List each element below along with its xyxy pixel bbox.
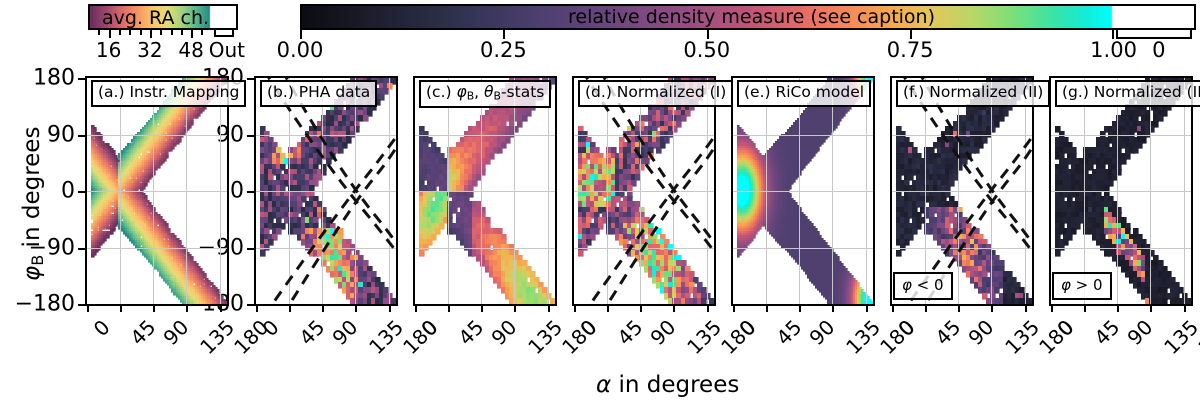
inset-label-g: φ > 0 (1052, 272, 1112, 300)
panel-d[interactable] (572, 76, 716, 306)
colorbar-minor-tick (98, 30, 100, 35)
xaxis-tick (958, 306, 960, 312)
gridline-vertical (355, 78, 356, 304)
panel-b[interactable] (254, 76, 398, 306)
xaxis-tick (389, 306, 391, 312)
xaxis-tick (892, 306, 894, 312)
xaxis-tick-label: 90 (805, 315, 840, 350)
xaxis-tick-label: 45 (931, 315, 966, 350)
gridline-vertical (832, 78, 833, 304)
xaxis-tick (673, 306, 675, 312)
yaxis-tick-label: 0 (5, 179, 75, 204)
panel-c[interactable] (413, 76, 557, 306)
colorbar-tick-label: 48 (178, 38, 203, 62)
gridline-horizontal (892, 248, 1032, 249)
gridline-vertical (1084, 78, 1085, 304)
xaxis-tick (1084, 306, 1086, 312)
xaxis-tick (866, 306, 868, 312)
gridline-vertical (1150, 78, 1151, 304)
xaxis-tick-label: 90 (1123, 315, 1158, 350)
gridline-vertical (640, 78, 641, 304)
gridline-horizontal (733, 191, 873, 192)
gridline-vertical (548, 78, 549, 304)
panel-title-a: (a.) Instr. Mapping (91, 80, 246, 107)
yaxis-tick (78, 248, 85, 250)
gridline-horizontal (415, 248, 555, 249)
colorbar-minor-tick (140, 30, 142, 35)
xaxis-tick (799, 306, 801, 312)
gridline-horizontal (733, 248, 873, 249)
colorbar-minor-tick (171, 30, 173, 35)
gridline-vertical (514, 78, 515, 304)
xaxis-tick (991, 306, 993, 312)
xaxis-tick-label: 45 (1090, 315, 1125, 350)
gridline-vertical (481, 78, 482, 304)
gridline-vertical (186, 78, 187, 304)
xaxis-tick-label: 90 (328, 315, 363, 350)
gridline-horizontal (87, 248, 227, 249)
panel-title-g: (g.) Normalized (II) (1055, 80, 1200, 107)
gridline-horizontal (574, 191, 714, 192)
xaxis-tick (1051, 306, 1053, 312)
xaxis-tick (289, 306, 291, 312)
xaxis-tick (514, 306, 516, 312)
xaxis-tick (120, 306, 122, 312)
inset-label-f: φ < 0 (893, 272, 953, 300)
gridline-vertical (958, 78, 959, 304)
gridline-horizontal (733, 135, 873, 136)
panel-title-b: (b.) PHA data (260, 80, 377, 107)
yaxis-tick-label: 180 (5, 66, 75, 91)
colorbar-tick-label: 0.75 (887, 38, 934, 62)
yaxis-tick (78, 191, 85, 193)
colorbar-minor-tick (181, 30, 183, 35)
yaxis-tick (247, 248, 254, 250)
xaxis-tick-label: 45 (772, 315, 807, 350)
xaxis-tick (1184, 306, 1186, 312)
gridline-horizontal (892, 135, 1032, 136)
gridline-vertical (120, 78, 121, 304)
figure-root: avg. RA ch. relative density measure (se… (0, 0, 1200, 414)
colorbar-tick (150, 30, 152, 38)
xaxis-tick (355, 306, 357, 312)
xaxis-tick (322, 306, 324, 312)
xaxis-tick (87, 306, 89, 312)
gridline-horizontal (574, 135, 714, 136)
colorbar-over-bracket (214, 30, 234, 37)
colorbar-density-title: relative density measure (see caption) (568, 8, 935, 27)
gridline-vertical (1117, 78, 1118, 304)
gridline-vertical (153, 78, 154, 304)
gridline-horizontal (574, 248, 714, 249)
panel-title-c: (c.) φB, θB-stats (419, 80, 551, 108)
gridline-vertical (322, 78, 323, 304)
xaxis-tick-label: 45 (126, 315, 161, 350)
colorbar-over-label: 0 (1152, 38, 1165, 62)
xaxis-tick-label: 90 (159, 315, 194, 350)
panel-a[interactable] (85, 76, 229, 306)
xaxis-tick (1117, 306, 1119, 312)
gridline-vertical (389, 78, 390, 304)
gridline-horizontal (1051, 191, 1191, 192)
yaxis-tick-label: −180 (5, 292, 75, 317)
yaxis-tick-label: −90 (5, 235, 75, 260)
xaxis-tick (707, 306, 709, 312)
gridline-vertical (220, 78, 221, 304)
colorbar-minor-tick (201, 30, 203, 35)
yaxis-tick (78, 304, 85, 306)
xaxis-tick (548, 306, 550, 312)
colorbar-avg-ra-title: avg. RA ch. (102, 9, 209, 28)
yaxis-tick (78, 78, 85, 80)
gridline-vertical (766, 78, 767, 304)
panel-title-d: (d.) Normalized (I) (578, 80, 733, 107)
gridline-horizontal (256, 135, 396, 136)
xaxis-tick (448, 306, 450, 312)
colorbar-tick-label: 32 (137, 38, 162, 62)
xaxis-tick (574, 306, 576, 312)
xaxis-tick (607, 306, 609, 312)
gridline-horizontal (415, 135, 555, 136)
gridline-vertical (448, 78, 449, 304)
xaxis-tick-label: 45 (295, 315, 330, 350)
colorbar-tick-label: 0.50 (683, 38, 730, 62)
gridline-horizontal (1051, 135, 1191, 136)
gridline-vertical (1025, 78, 1026, 304)
xaxis-tick-label: 45 (613, 315, 648, 350)
panel-title-e: (e.) RiCo model (737, 80, 871, 107)
yaxis-tick (247, 78, 254, 80)
gridline-vertical (866, 78, 867, 304)
gridline-vertical (925, 78, 926, 304)
xaxis-tick-label: 90 (964, 315, 999, 350)
gridline-vertical (991, 78, 992, 304)
gridline-horizontal (256, 248, 396, 249)
gridline-horizontal (892, 191, 1032, 192)
gridline-vertical (289, 78, 290, 304)
colorbar-tick-label: 0.00 (277, 38, 324, 62)
yaxis-tick (78, 135, 85, 137)
colorbar-minor-tick (119, 30, 121, 35)
panel-e[interactable] (731, 76, 875, 306)
xaxis-tick-label: 45 (454, 315, 489, 350)
xaxis-tick (832, 306, 834, 312)
gridline-horizontal (415, 191, 555, 192)
xaxis-tick (925, 306, 927, 312)
gridline-horizontal (1051, 248, 1191, 249)
gridline-horizontal (256, 191, 396, 192)
yaxis-tick (247, 191, 254, 193)
colorbar-tick (109, 30, 111, 38)
xaxis-title: α in degrees (596, 372, 739, 398)
xaxis-tick-label: 90 (646, 315, 681, 350)
colorbar-tick (191, 30, 193, 38)
colorbar-tick-label: 0.25 (480, 38, 527, 62)
colorbar-over-label: Out (209, 38, 245, 62)
gridline-vertical (1184, 78, 1185, 304)
xaxis-tick (1150, 306, 1152, 312)
colorbar-tick-label: 16 (96, 38, 121, 62)
colorbar-minor-tick (160, 30, 162, 35)
gridline-vertical (673, 78, 674, 304)
xaxis-tick (481, 306, 483, 312)
yaxis-tick (247, 135, 254, 137)
gridline-horizontal (87, 191, 227, 192)
xaxis-tick (153, 306, 155, 312)
gridline-vertical (707, 78, 708, 304)
yaxis-tick (247, 304, 254, 306)
xaxis-tick-label: 135 (1160, 315, 1200, 359)
xaxis-tick-label: 0 (89, 315, 115, 341)
xaxis-tick-label: 90 (487, 315, 522, 350)
gridline-vertical (607, 78, 608, 304)
xaxis-tick (640, 306, 642, 312)
gridline-vertical (799, 78, 800, 304)
xaxis-tick (766, 306, 768, 312)
gridline-horizontal (87, 135, 227, 136)
colorbar-relative-density: relative density measure (see caption) (300, 4, 1196, 56)
xaxis-tick (256, 306, 258, 312)
xaxis-tick (1025, 306, 1027, 312)
colorbar-minor-tick (129, 30, 131, 35)
colorbar-tick-label: 1.00 (1090, 38, 1137, 62)
yaxis-tick-label: 90 (5, 122, 75, 147)
xaxis-tick (733, 306, 735, 312)
xaxis-tick (415, 306, 417, 312)
panel-title-f: (f.) Normalized (II) (896, 80, 1050, 107)
